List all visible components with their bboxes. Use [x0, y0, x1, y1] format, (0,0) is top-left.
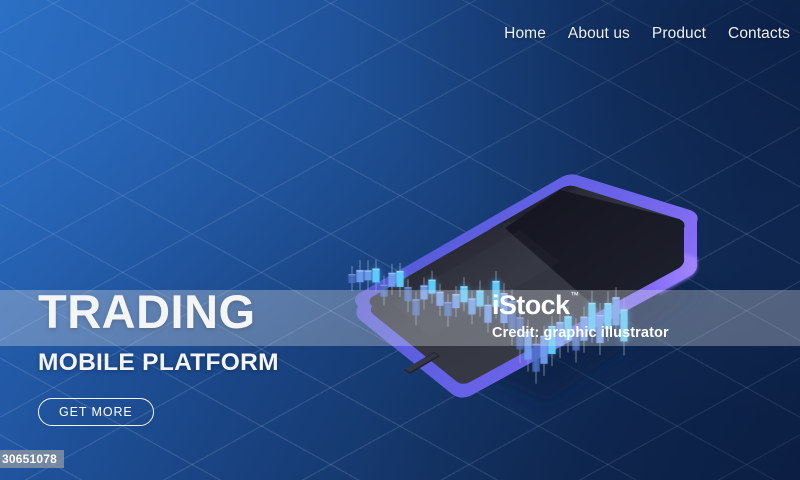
candle-highlight — [508, 301, 515, 302]
candle-body — [516, 317, 523, 349]
candle-body — [588, 303, 595, 331]
candle-body — [612, 297, 619, 325]
candle-highlight — [548, 326, 555, 327]
candle-body — [436, 292, 443, 306]
candle-body — [484, 305, 491, 323]
candle-highlight — [420, 285, 427, 286]
candle-highlight — [540, 336, 547, 337]
candle-highlight — [484, 305, 491, 306]
candle-highlight — [348, 274, 355, 275]
candle-body — [604, 303, 611, 329]
candle-highlight — [396, 271, 403, 272]
candle-highlight — [596, 315, 603, 316]
candle-body — [420, 285, 427, 299]
candle-body — [556, 322, 563, 346]
candle-body — [388, 273, 395, 287]
candle-body — [404, 287, 411, 301]
candle-body — [372, 268, 379, 282]
nav-item-home[interactable]: Home — [504, 25, 546, 43]
candle-body — [580, 317, 587, 341]
candle-body — [532, 344, 539, 372]
candle-body — [452, 294, 459, 308]
candle-highlight — [572, 328, 579, 329]
candle-highlight — [588, 303, 595, 304]
candle-highlight — [460, 286, 467, 287]
candle-body — [620, 309, 627, 341]
candle-highlight — [604, 303, 611, 304]
candle-highlight — [356, 270, 363, 271]
candle-highlight — [372, 268, 379, 269]
candle-highlight — [476, 291, 483, 292]
candle-body — [548, 326, 555, 354]
candle-body — [412, 299, 419, 315]
candle-body — [356, 270, 363, 282]
candle-body — [468, 298, 475, 314]
candle-body — [596, 315, 603, 343]
hero-copy-block: TRADING MOBILE PLATFORM GET MORE — [38, 288, 279, 426]
candle-body — [500, 293, 507, 323]
candle-highlight — [428, 280, 435, 281]
candle-body-layer — [348, 259, 627, 383]
candle-highlight — [444, 302, 451, 303]
candle-highlight — [524, 332, 531, 333]
candle-highlight — [620, 309, 627, 310]
candle-highlight — [412, 299, 419, 300]
get-more-button[interactable]: GET MORE — [38, 398, 154, 426]
candle-body — [476, 291, 483, 307]
candle-highlight — [500, 293, 507, 294]
candle-body — [364, 270, 371, 280]
candle-highlight — [532, 344, 539, 345]
page-title: TRADING — [38, 288, 279, 335]
candle-body — [444, 302, 451, 316]
nav-item-about-us[interactable]: About us — [568, 25, 630, 43]
candle-highlight — [468, 298, 475, 299]
candle-highlight — [452, 294, 459, 295]
candle-body — [460, 286, 467, 302]
candle-highlight — [436, 292, 443, 293]
candle-body — [564, 316, 571, 340]
candle-highlight — [580, 317, 587, 318]
candle-body — [428, 280, 435, 294]
candle-highlight — [364, 270, 371, 271]
candle-body — [572, 328, 579, 350]
candle-body — [396, 271, 403, 287]
main-navigation[interactable]: Home About us Product Contacts — [504, 25, 790, 43]
nav-item-product[interactable]: Product — [652, 25, 706, 43]
candle-highlight — [404, 287, 411, 288]
candle-highlight — [492, 281, 499, 282]
candle-highlight — [380, 285, 387, 286]
candle-body — [524, 332, 531, 360]
candle-highlight — [516, 317, 523, 318]
candle-highlight — [612, 297, 619, 298]
candle-body — [492, 281, 499, 307]
candle-highlight — [564, 316, 571, 317]
hero-landing-page: Home About us Product Contacts TRADING M… — [0, 0, 800, 480]
candle-highlight — [556, 322, 563, 323]
candle-body — [540, 336, 547, 364]
candle-body — [380, 285, 387, 297]
candle-highlight — [388, 273, 395, 274]
nav-item-contacts[interactable]: Contacts — [728, 25, 790, 43]
page-subtitle: MOBILE PLATFORM — [38, 349, 279, 377]
candle-body — [508, 301, 515, 331]
